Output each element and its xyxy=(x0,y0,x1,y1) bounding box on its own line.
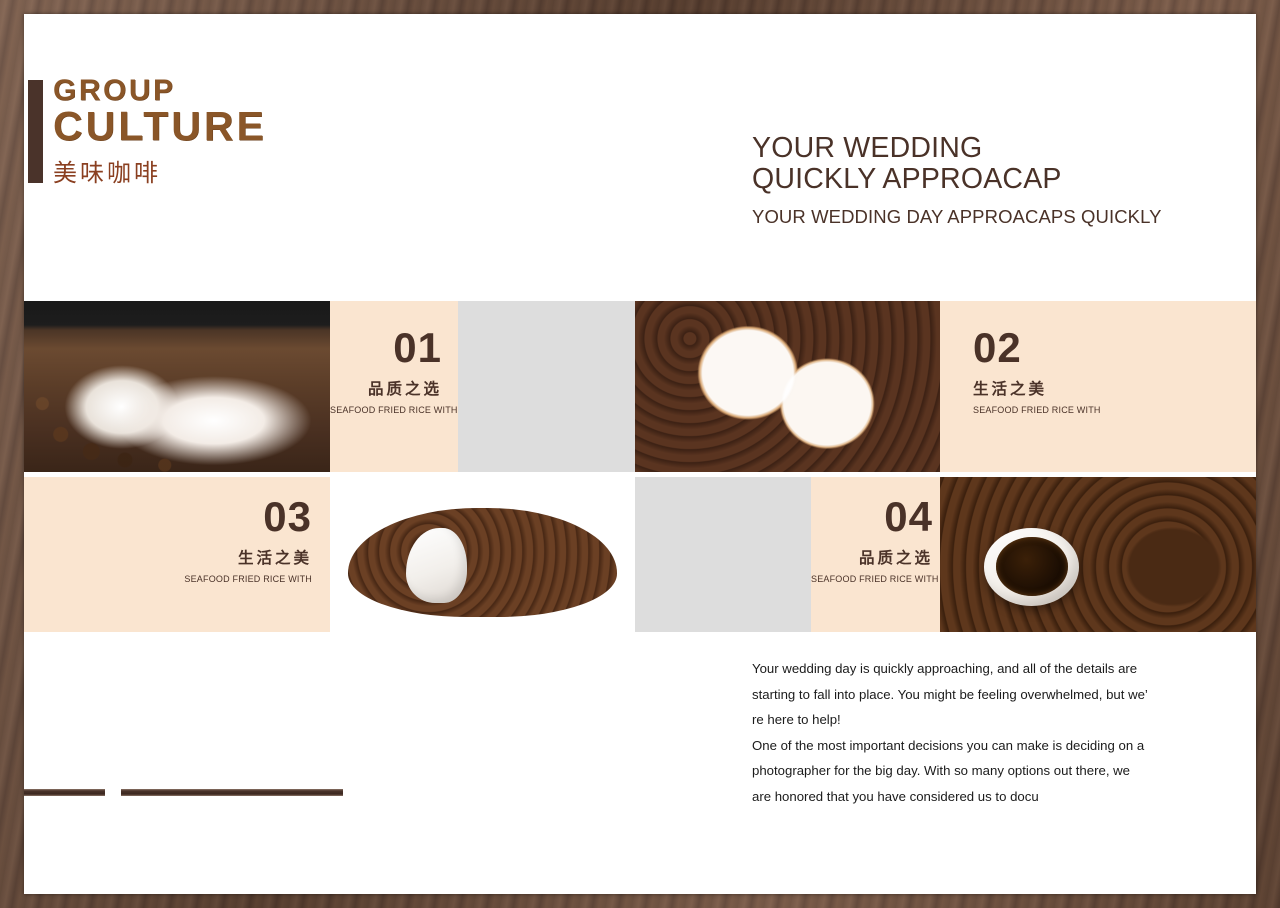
body-copy-block: Your wedding day is quickly approaching,… xyxy=(752,656,1152,809)
body-paragraph-2: One of the most important decisions you … xyxy=(752,733,1152,810)
logo-line-culture: CULTURE xyxy=(53,105,267,147)
logo-subtitle-cn: 美味咖啡 xyxy=(53,153,267,188)
item-04-number: 04 xyxy=(811,496,933,538)
item-02-text: 02 生活之美 SEAFOOD FRIED RICE WITH xyxy=(973,327,1233,415)
headline-subtitle: YOUR WEDDING DAY APPROACAPS QUICKLY xyxy=(752,206,1222,228)
panel-item-02[interactable]: 02 生活之美 SEAFOOD FRIED RICE WITH xyxy=(940,301,1256,472)
photo-heart-cups xyxy=(635,301,940,472)
photo-coffee-spoon-burlap: SEAFOOD FRIED RICE WITH xyxy=(940,477,1256,632)
panel-item-03[interactable]: 03 生活之美 SEAFOOD FRIED RICE WITH xyxy=(24,477,330,632)
ghost-caption: SEAFOOD FRIED RICE WITH xyxy=(964,482,1092,492)
item-04-title-en: SEAFOOD FRIED RICE WITH xyxy=(811,574,933,584)
photo-bean-pile xyxy=(330,477,635,632)
body-paragraph-1: Your wedding day is quickly approaching,… xyxy=(752,656,1152,733)
item-04-text: 04 品质之选 SEAFOOD FRIED RICE WITH xyxy=(811,496,933,584)
item-03-title-en: SEAFOOD FRIED RICE WITH xyxy=(24,574,312,584)
item-02-number: 02 xyxy=(973,327,1233,369)
panel-gray-row2 xyxy=(635,477,811,632)
item-02-title-cn: 生活之美 xyxy=(973,377,1233,399)
logo-text-group: GROUP CULTURE 美味咖啡 xyxy=(53,74,267,188)
header-headline-block: YOUR WEDDING QUICKLY APPROACAP YOUR WEDD… xyxy=(752,133,1222,228)
panel-item-04[interactable]: 04 品质之选 SEAFOOD FRIED RICE WITH xyxy=(811,477,940,632)
panel-item-01[interactable]: 01 品质之选 SEAFOOD FRIED RICE WITH xyxy=(330,301,458,472)
photo-espresso-machine xyxy=(24,301,330,472)
item-01-number: 01 xyxy=(330,327,442,369)
logo-accent-bar xyxy=(28,80,43,183)
panel-gray-row1 xyxy=(458,301,635,472)
item-03-number: 03 xyxy=(24,496,312,538)
bottom-rule-long xyxy=(121,789,343,796)
item-01-text: 01 品质之选 SEAFOOD FRIED RICE WITH xyxy=(330,327,442,415)
item-01-title-en: SEAFOOD FRIED RICE WITH xyxy=(330,405,442,415)
feature-grid: 01 品质之选 SEAFOOD FRIED RICE WITH 02 生活之美 … xyxy=(24,301,1256,632)
headline-line-1: YOUR WEDDING xyxy=(752,133,1222,164)
page-sheet: GROUP CULTURE 美味咖啡 YOUR WEDDING QUICKLY … xyxy=(24,14,1256,894)
item-04-title-cn: 品质之选 xyxy=(811,546,933,568)
item-01-title-cn: 品质之选 xyxy=(330,377,442,399)
item-03-title-cn: 生活之美 xyxy=(24,546,312,568)
item-03-text: 03 生活之美 SEAFOOD FRIED RICE WITH xyxy=(24,496,312,584)
item-02-title-en: SEAFOOD FRIED RICE WITH xyxy=(973,405,1233,415)
bottom-rule-short xyxy=(24,789,105,796)
headline-line-2: QUICKLY APPROACAP xyxy=(752,164,1222,195)
